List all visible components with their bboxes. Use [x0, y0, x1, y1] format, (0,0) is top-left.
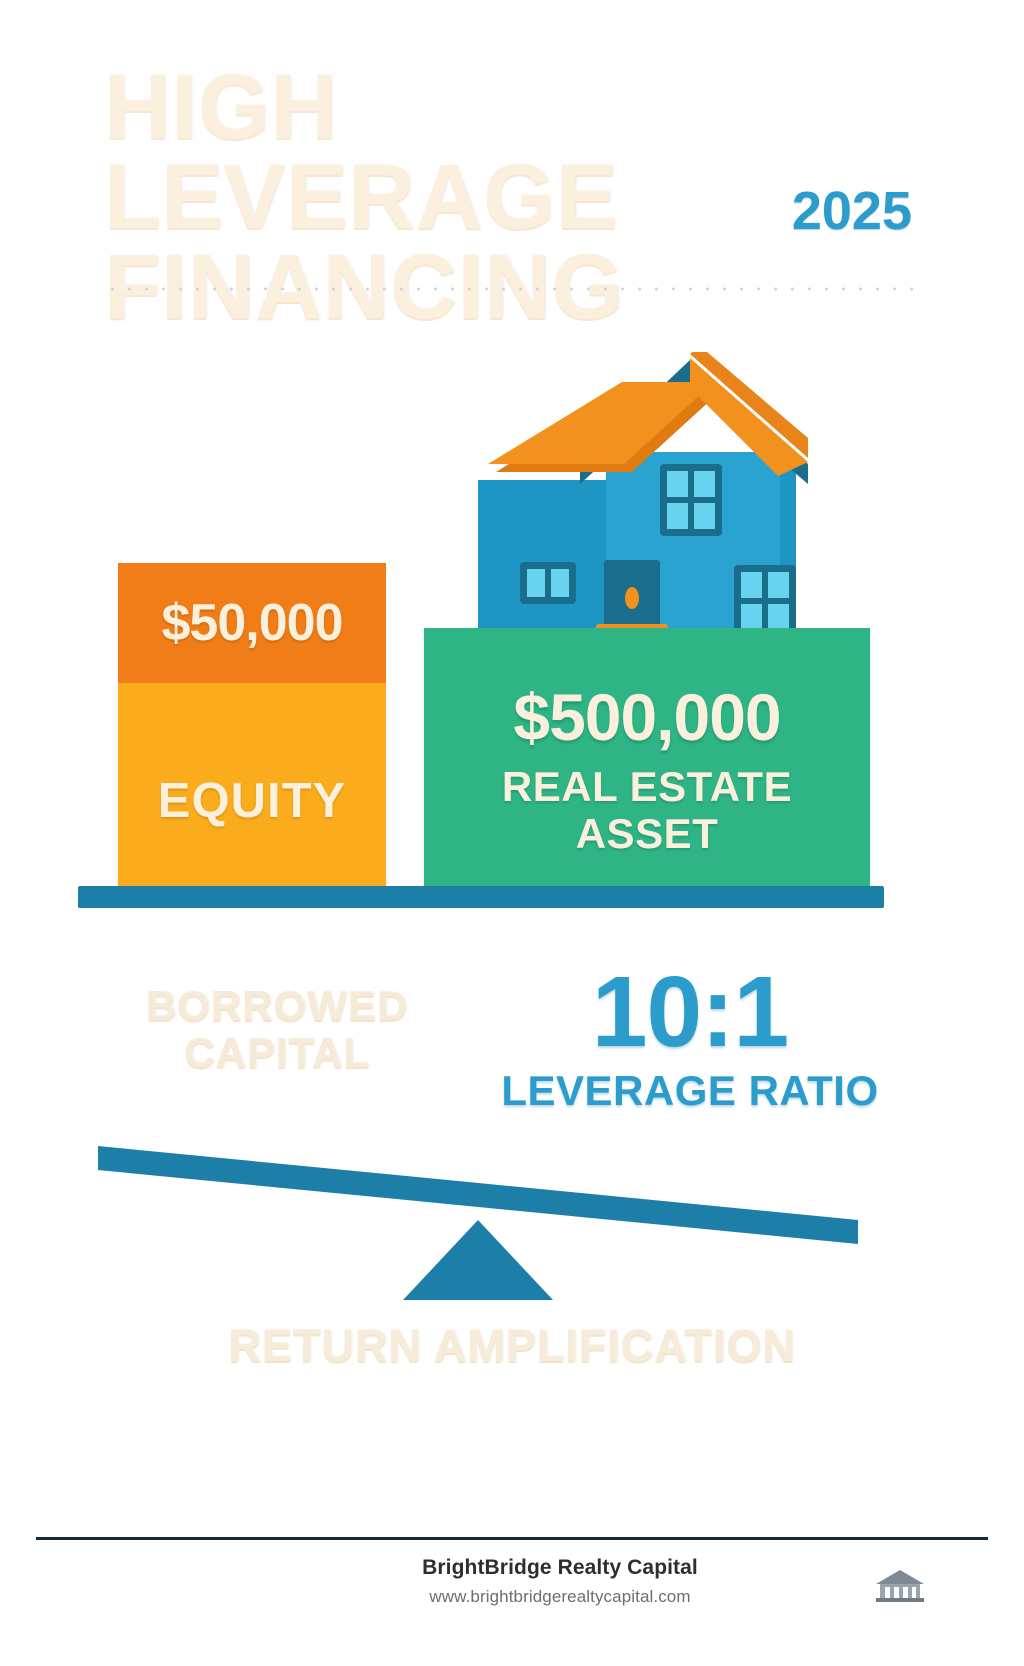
equity-amount: $50,000 — [162, 593, 343, 653]
leverage-ratio-label: LEVERAGE RATIO — [480, 1067, 900, 1115]
asset-label: REAL ESTATE ASSET — [502, 763, 792, 857]
equity-label-section: EQUITY — [118, 683, 386, 900]
platform-bar — [78, 886, 884, 908]
leverage-ratio-value: 10:1 — [480, 960, 900, 1065]
footer: BrightBridge Realty Capital www.brightbr… — [0, 1556, 1024, 1646]
footer-text: BrightBridge Realty Capital www.brightbr… — [260, 1556, 860, 1607]
company-logo-icon — [872, 1564, 928, 1606]
return-amplification-label: RETURN AMPLIFICATION — [112, 1320, 912, 1372]
borrowed-line-1: BORROWED — [146, 982, 408, 1029]
footer-divider — [36, 1537, 988, 1540]
equity-amount-section: $50,000 — [118, 563, 386, 683]
year-badge: 2025 — [792, 180, 912, 242]
asset-label-line-2: ASSET — [576, 810, 719, 857]
dotted-divider — [104, 284, 920, 294]
company-website[interactable]: www.brightbridgerealtycapital.com — [260, 1587, 860, 1607]
house-icon — [462, 352, 808, 642]
seesaw-icon — [78, 1128, 878, 1313]
equity-label: EQUITY — [158, 773, 346, 829]
title-line-1: HIGH LEVERAGE — [104, 56, 618, 248]
borrowed-capital-label: BORROWED CAPITAL — [112, 982, 442, 1076]
asset-label-line-1: REAL ESTATE — [502, 763, 792, 810]
equity-bar: $50,000 EQUITY — [118, 563, 386, 900]
asset-bar: $500,000 REAL ESTATE ASSET — [424, 628, 870, 900]
leverage-ratio-block: 10:1 LEVERAGE RATIO — [480, 960, 900, 1115]
borrowed-line-2: CAPITAL — [184, 1029, 370, 1076]
company-name: BrightBridge Realty Capital — [260, 1556, 860, 1580]
infographic-poster: HIGH LEVERAGE FINANCING 2025 — [0, 0, 1024, 1666]
asset-amount: $500,000 — [513, 679, 780, 755]
